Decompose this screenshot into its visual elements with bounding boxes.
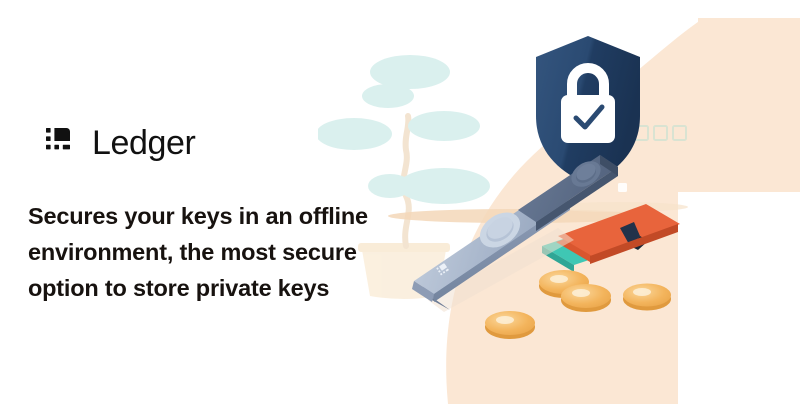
coin: [485, 311, 535, 339]
brand-lockup: Ledger: [46, 126, 195, 160]
brand-name: Ledger: [92, 126, 195, 160]
ledger-logo-mark-icon: [46, 127, 78, 159]
ledger-promo-banner: Ledger Secures your keys in an offline e…: [0, 0, 800, 404]
coin: [561, 284, 611, 312]
coin: [623, 284, 671, 311]
illustration-container: [318, 0, 800, 404]
